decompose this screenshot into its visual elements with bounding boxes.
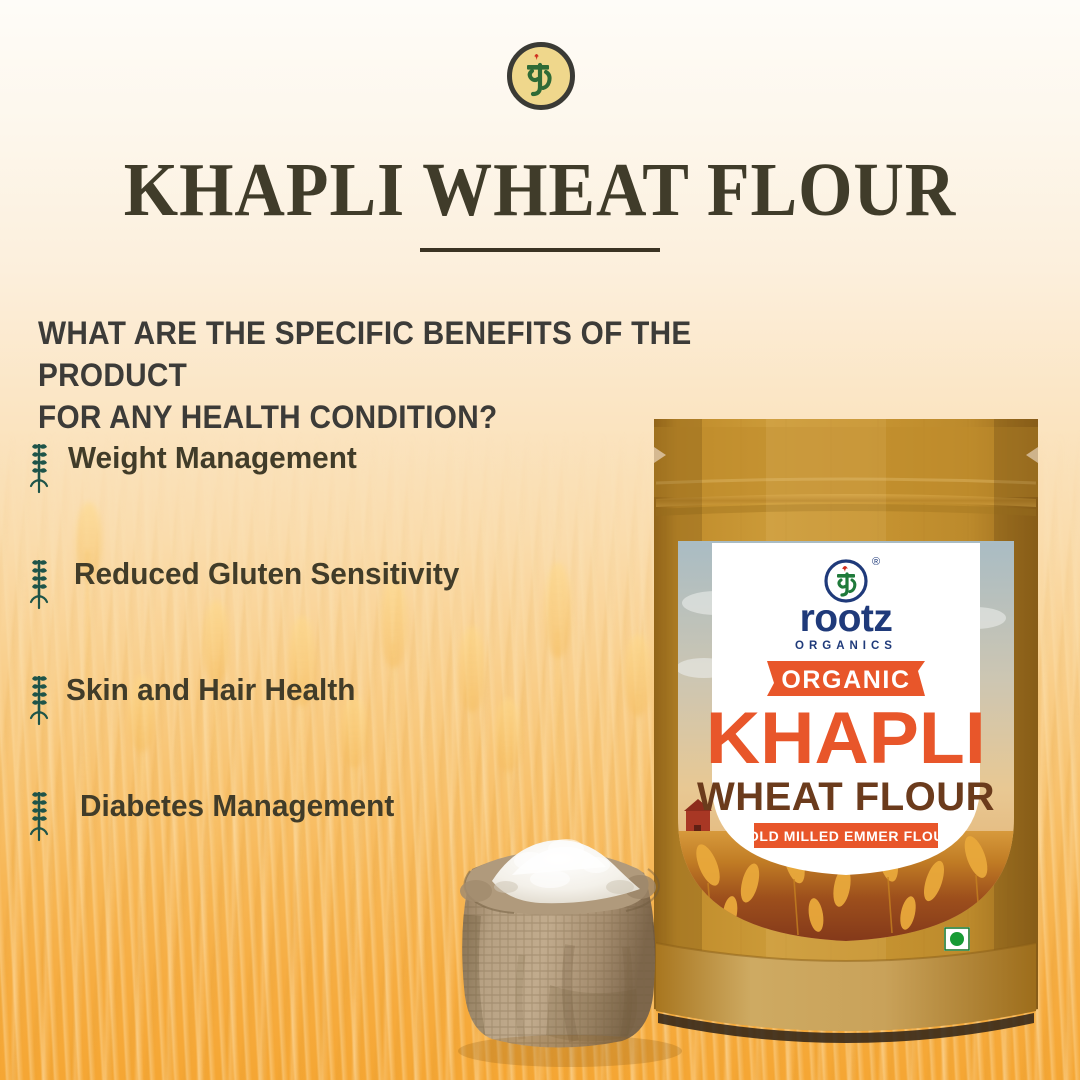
brand-tagline: ORGANICS (795, 640, 897, 652)
registered-mark: ® (872, 556, 880, 568)
cold-milled-banner: COLD MILLED EMMER FLOUR (737, 823, 955, 848)
burlap-flour-sack (430, 795, 730, 1080)
list-item: Reduced Gluten Sensitivity (0, 548, 620, 664)
benefit-label: Skin and Hair Health (66, 674, 355, 705)
rootz-seal-logo (507, 42, 575, 110)
green-dot-vegetarian-mark (944, 927, 970, 951)
cold-milled-banner-label: COLD MILLED EMMER FLOUR (737, 828, 955, 844)
wheat-sprig-icon (22, 670, 56, 726)
brand-name: rootz (800, 597, 893, 640)
product-name-line-1: KHAPLI (706, 697, 986, 779)
list-item: Weight Management (0, 432, 620, 548)
organic-banner-label: ORGANIC (781, 666, 910, 694)
organic-banner: ORGANIC (767, 661, 925, 696)
wheat-sprig-icon (22, 438, 56, 494)
wheat-sprig-icon (22, 554, 56, 610)
benefit-label: Reduced Gluten Sensitivity (74, 558, 459, 589)
question-line-1: WHAT ARE THE SPECIFIC BENEFITS OF THE PR… (38, 312, 819, 396)
benefit-label: Diabetes Management (80, 790, 394, 821)
poster-canvas: KHAPLI WHEAT FLOUR WHAT ARE THE SPECIFIC… (0, 0, 1080, 1080)
title-underline-rule (420, 248, 660, 252)
wheat-sprig-icon (22, 786, 56, 842)
benefit-label: Weight Management (68, 442, 357, 473)
list-item: Skin and Hair Health (0, 664, 620, 780)
sack-ground-shadow (458, 1035, 682, 1067)
flour-mound (492, 839, 640, 903)
seal-glyph-icon (507, 42, 575, 110)
page-title: KHAPLI WHEAT FLOUR (43, 152, 1037, 228)
product-name-line-2: WHEAT FLOUR (697, 775, 995, 819)
